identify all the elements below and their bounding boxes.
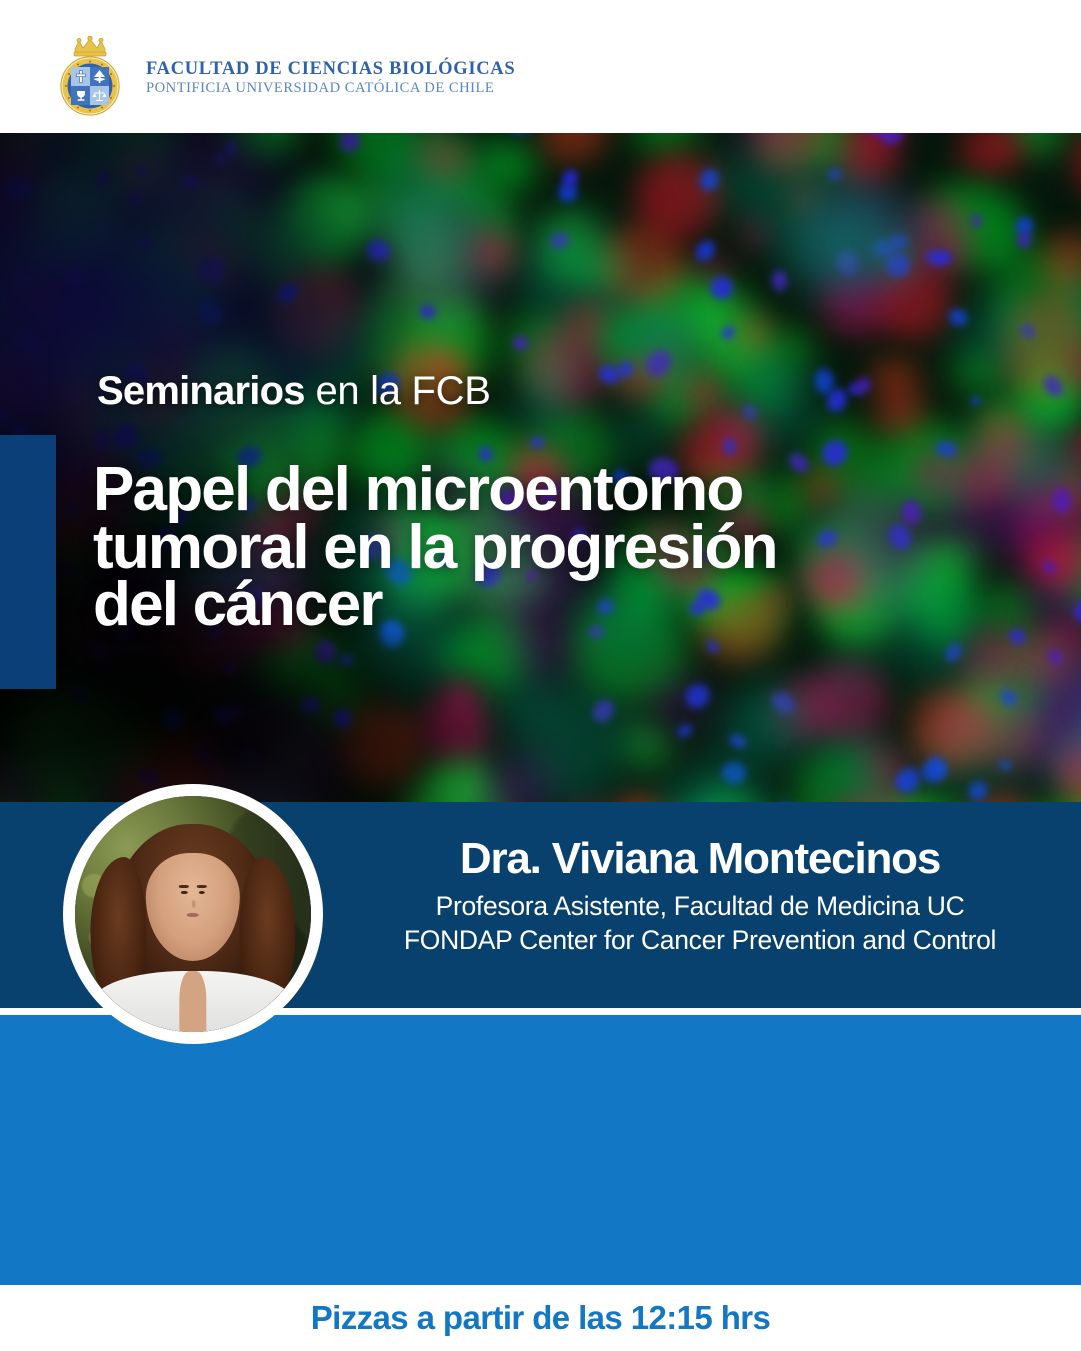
hero-kicker: Seminarios en la FCB (97, 371, 491, 411)
title-line-1: Papel del microentorno (93, 461, 993, 519)
logo-text-block: FACULTAD DE CIENCIAS BIOLÓGICAS PONTIFIC… (146, 59, 515, 97)
avatar (63, 784, 323, 1044)
poster-footer: Pizzas a partir de las 12:15 hrs (0, 1285, 1081, 1351)
university-name: PONTIFICIA UNIVERSIDAD CATÓLICA DE CHILE (146, 80, 515, 98)
speaker-role-line-2: FONDAP Center for Cancer Prevention and … (330, 923, 1070, 957)
seminar-title: Papel del microentorno tumoral en la pro… (93, 461, 993, 634)
uc-crest-icon (52, 36, 128, 120)
event-info-row: Viernes 28 de junio 12:30 horas Auditori… (0, 1015, 1081, 1285)
speaker-name: Dra. Viviana Montecinos (330, 836, 1070, 883)
title-line-3: del cáncer (93, 576, 993, 634)
kicker-bold: Seminarios (97, 369, 305, 413)
title-line-2: tumoral en la progresión (93, 519, 993, 577)
speaker-portrait-image (75, 796, 311, 1032)
navy-accent-block (0, 435, 56, 689)
footer-note: Pizzas a partir de las 12:15 hrs (311, 1299, 771, 1337)
faculty-name: FACULTAD DE CIENCIAS BIOLÓGICAS (146, 59, 515, 80)
seminar-poster: FACULTAD DE CIENCIAS BIOLÓGICAS PONTIFIC… (0, 0, 1081, 1351)
poster-header: FACULTAD DE CIENCIAS BIOLÓGICAS PONTIFIC… (0, 0, 1081, 133)
speaker-role-line-1: Profesora Asistente, Facultad de Medicin… (330, 889, 1070, 923)
faculty-logo: FACULTAD DE CIENCIAS BIOLÓGICAS PONTIFIC… (52, 36, 515, 120)
speaker-details: Dra. Viviana Montecinos Profesora Asiste… (330, 836, 1070, 958)
kicker-light: en la FCB (305, 369, 491, 413)
